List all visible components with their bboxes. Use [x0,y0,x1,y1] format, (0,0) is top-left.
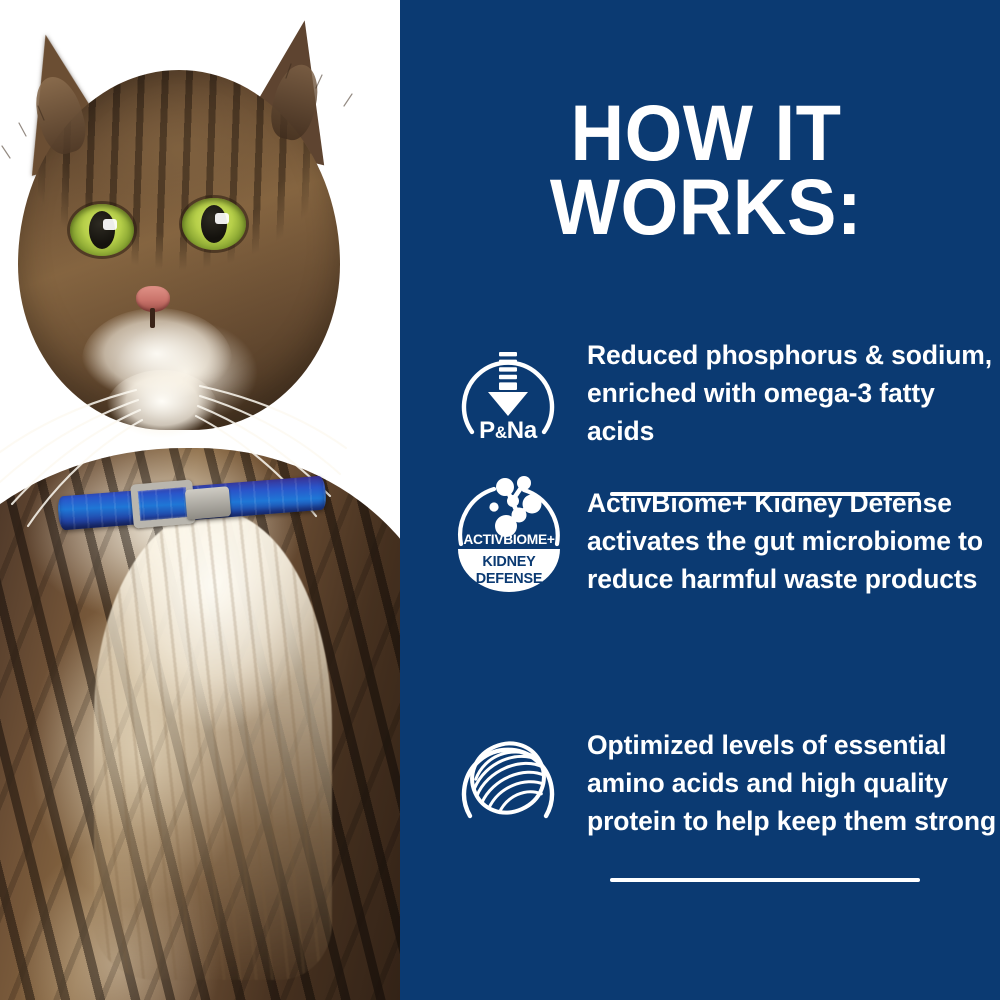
benefit-1-text: Reduced phosphorus & sodium, enriched wi… [570,332,1000,450]
collar-buckle-plate [185,486,231,520]
cat-chin [106,370,218,448]
pna-ampersand: & [495,423,507,442]
page-title: HOW IT WORKS: [462,96,951,245]
cat-photo [0,18,400,1000]
benefit-item-reduced-phosphorus-sodium: P&Na Reduced phosphorus & sodium, enrich… [400,332,1000,472]
benefit-2-text: ActivBiome+ Kidney Defense activates the… [570,472,1000,598]
cat-left-eye [70,204,134,256]
p-and-na-down-arrow-icon: P&Na [452,336,564,448]
benefit-2-icon-slot: ACTIVBIOME+ KIDNEY DEFENSE [450,472,570,592]
cat-right-eye-glint [215,213,229,224]
muscle-fibre-icon [452,722,564,834]
pna-first: P [479,417,495,444]
benefits-list: P&Na Reduced phosphorus & sodium, enrich… [400,332,1000,898]
benefit-item-activbiome-kidney-defense: ACTIVBIOME+ KIDNEY DEFENSE ActivBiome+ K… [400,472,1000,718]
badge-bottom-line-1: KIDNEY [482,554,535,570]
benefit-3-icon-slot [450,718,570,838]
cat-right-pupil [201,205,227,243]
headline-line-2: WORKS: [550,162,862,251]
benefit-1-icon-slot: P&Na [450,332,570,452]
cat-nose [136,286,170,312]
cat-chest-ruff [94,510,332,980]
benefit-3-text: Optimized levels of essential amino acid… [570,718,1000,840]
cat-left-eye-glint [103,219,117,230]
cat-collar [58,478,326,530]
pna-last: Na [507,417,537,444]
badge-bottom-line-2: DEFENSE [476,571,543,587]
badge-top-word: ACTIVBIOME+ [451,532,567,548]
cat-right-eye [182,198,246,250]
cat-photo-panel [0,0,400,1000]
activbiome-kidney-defense-badge-icon: ACTIVBIOME+ KIDNEY DEFENSE [450,470,568,592]
cat-left-pupil [89,211,115,249]
benefit-item-optimized-amino-acids-protein: Optimized levels of essential amino acid… [400,718,1000,898]
marketing-infographic: HOW IT WORKS: [0,0,1000,1000]
p-and-na-label: P&Na [452,417,564,445]
info-panel: HOW IT WORKS: [400,0,1000,1000]
